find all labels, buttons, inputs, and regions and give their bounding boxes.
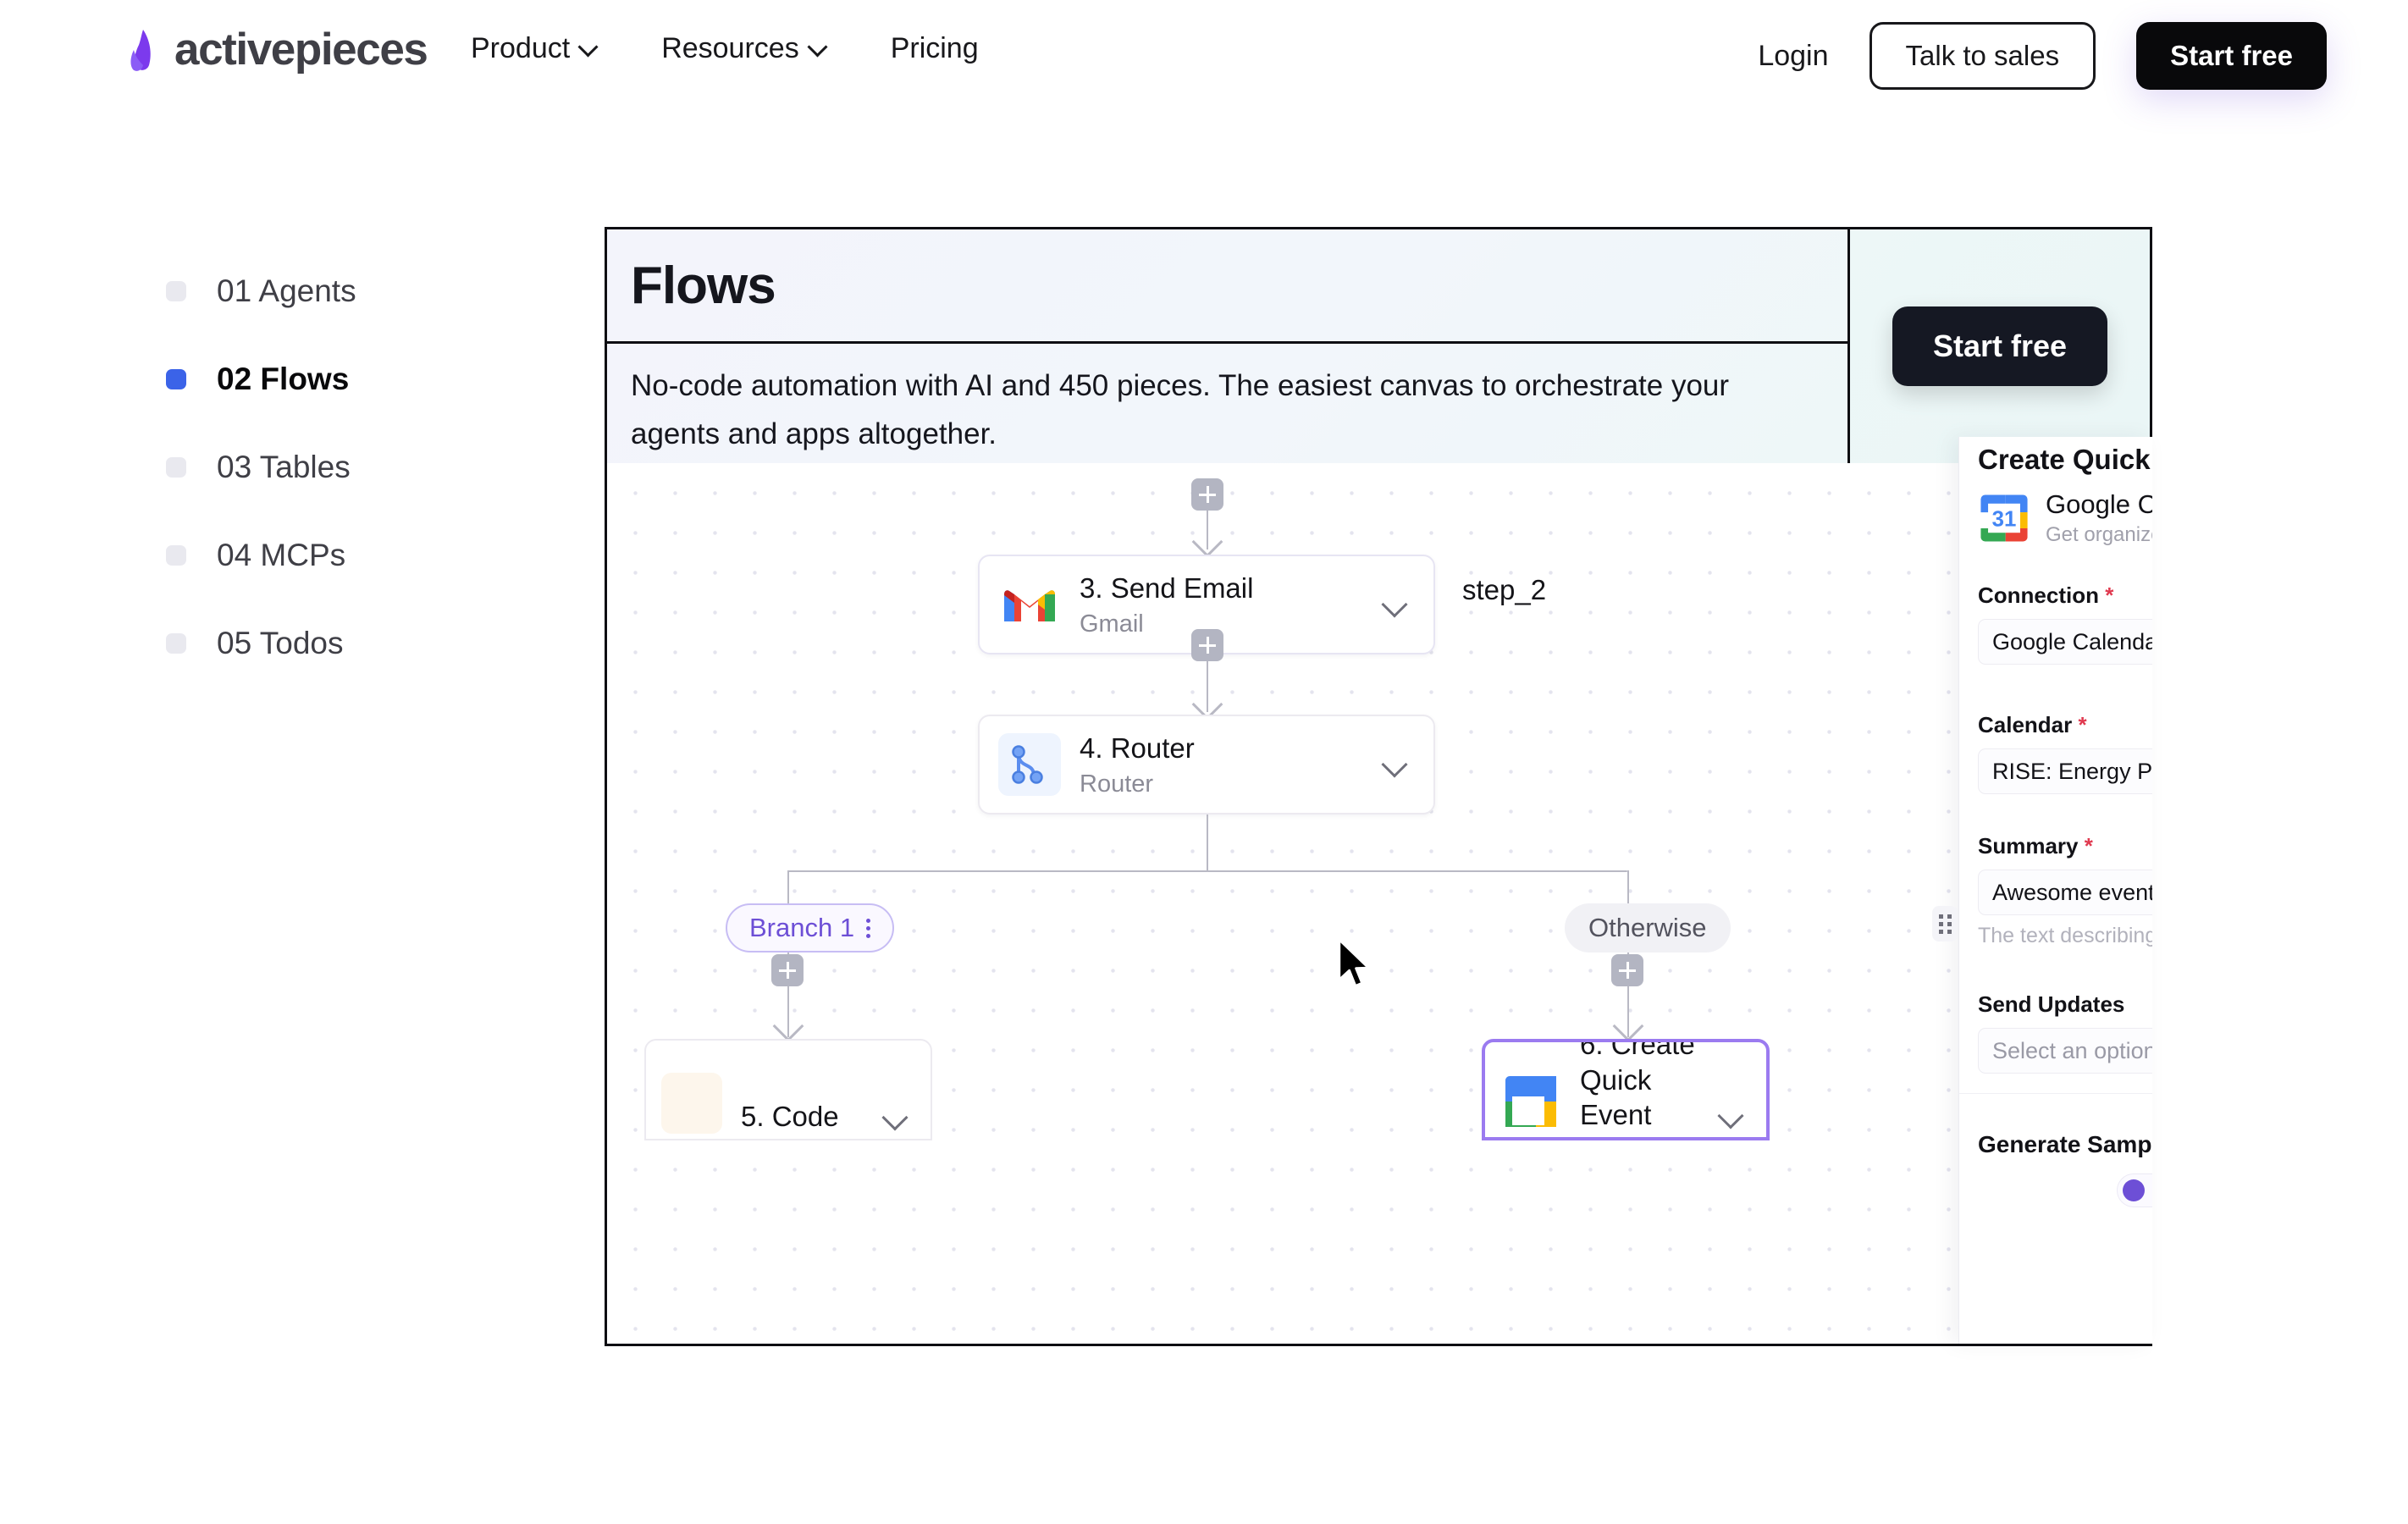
flow-node-router[interactable]: 4. Router Router [978,715,1435,814]
summary-hint: The text describing the e [1978,924,2152,948]
steplist-item-agents[interactable]: 01 Agents [166,247,522,335]
steplist-item-tables[interactable]: 03 Tables [166,423,522,511]
card-description: No-code automation with AI and 450 piece… [631,362,1824,458]
calendar-select[interactable]: RISE: Energy Peaks [1978,748,2152,794]
add-step-button[interactable] [1191,478,1223,511]
chevron-down-icon[interactable] [1383,592,1408,617]
step-dot-icon [166,633,186,654]
connector-line [787,870,1627,872]
flow-node-subtitle: Router [1080,770,1383,798]
chevron-down-icon[interactable] [1719,1103,1744,1129]
connector-arrow-icon [1613,1011,1644,1042]
branch-chip-otherwise[interactable]: Otherwise [1565,903,1731,952]
field-label: Send Updates [1978,991,2152,1018]
field-label-text: Summary [1978,833,2079,859]
card-start-free-button[interactable]: Start free [1892,306,2107,386]
section-steplist: 01 Agents 02 Flows 03 Tables 04 MCPs 05 … [166,247,522,687]
step-dot-icon [166,545,186,566]
panel-piece-text: Google Calendar Get organized [2046,489,2152,547]
drag-handle-icon [1939,914,1952,934]
brand-name: activepieces [174,24,427,75]
required-asterisk-icon: * [2099,583,2113,608]
add-step-button[interactable] [771,954,804,986]
panel-piece-name: Google Calendar [2046,489,2152,520]
steplist-item-mcps[interactable]: 04 MCPs [166,511,522,599]
product-showcase-card: Flows No-code automation with AI and 450… [605,227,2152,1346]
flow-node-title: 5. Code [741,1101,839,1132]
login-link[interactable]: Login [1758,40,1828,73]
panel-divider [1959,1093,2152,1094]
step-dot-icon [166,457,186,478]
branch-chip-branch-1[interactable]: Branch 1 [726,903,894,952]
chevron-down-icon[interactable] [883,1105,909,1130]
flow-node-subtitle: Gmail [1080,610,1383,638]
flow-node-step-tag: step_2 [1462,574,1546,606]
required-asterisk-icon: * [2079,833,2093,859]
connector-arrow-icon [773,1011,804,1042]
required-asterisk-icon: * [2072,712,2086,737]
connection-select[interactable]: Google Calendar [1978,619,2152,665]
flow-node-title: 4. Router [1080,732,1195,764]
generate-sample-data-label: Generate Sample D [1978,1131,2152,1158]
flow-node-text: 5. Code [741,1099,883,1134]
field-label-text: Calendar [1978,712,2072,737]
summary-input[interactable]: Awesome event [1978,870,2152,915]
talk-to-sales-button[interactable]: Talk to sales [1870,22,2096,90]
code-icon [661,1073,722,1134]
card-header: Flows No-code automation with AI and 450… [607,229,2150,463]
chevron-down-icon [809,38,826,55]
send-updates-select[interactable]: Select an option [1978,1028,2152,1074]
brand-logo[interactable]: activepieces [124,24,427,75]
steplist-item-todos[interactable]: 05 Todos [166,599,522,687]
top-navbar: activepieces Product Resources Pricing L… [0,0,2408,105]
nav-link-resources-label: Resources [661,32,799,65]
flow-node-text: 4. Router Router [1080,731,1383,798]
chevron-down-icon[interactable] [1383,752,1408,777]
flow-node-code[interactable]: 5. Code [644,1039,932,1140]
field-label: Connection * [1978,583,2152,609]
field-connection: Connection * Google Calendar [1978,583,2152,665]
connector-line [787,870,789,904]
step-dot-icon [166,369,186,389]
page-title: Flows [631,256,776,316]
router-icon [998,733,1061,796]
connector-line [1207,814,1208,870]
nav-link-product-label: Product [471,32,570,65]
field-label: Summary * [1978,833,2152,859]
branch-chip-label: Branch 1 [749,913,854,943]
branch-chip-label: Otherwise [1588,913,1707,943]
card-header-right: Start free [1850,229,2150,463]
flow-node-create-quick-event[interactable]: 6. Create Quick Event [1482,1039,1770,1140]
add-step-button[interactable] [1611,954,1643,986]
flow-canvas[interactable]: 3. Send Email Gmail step_2 [607,463,2150,1346]
card-description-row: No-code automation with AI and 450 piece… [607,344,1847,463]
google-calendar-icon: 31 [1978,492,2030,544]
panel-piece-header: 31 Google Calendar Get organized [1978,489,2152,547]
google-calendar-icon [1500,1071,1561,1132]
nav-actions: Login Talk to sales Start free [1758,22,2327,90]
field-summary: Summary * Awesome event The text describ… [1978,833,2152,948]
connector-line [1627,870,1629,904]
chevron-down-icon [580,38,597,55]
steplist-item-label: 05 Todos [217,626,344,661]
field-label-text: Connection [1978,583,2099,608]
activepieces-logo-icon [124,28,163,72]
panel-resize-handle[interactable] [1932,906,1958,941]
flow-node-text: 3. Send Email Gmail [1080,571,1383,638]
field-label: Calendar * [1978,712,2152,738]
steplist-item-label: 01 Agents [217,273,356,309]
nav-link-pricing[interactable]: Pricing [891,32,979,65]
generate-sample-data-toggle[interactable] [2117,1173,2152,1207]
steplist-item-label: 02 Flows [217,362,349,397]
kebab-menu-icon[interactable] [866,919,870,938]
flow-node-text: 6. Create Quick Event [1580,1039,1719,1132]
nav-link-resources[interactable]: Resources [661,32,826,65]
flow-node-title: 3. Send Email [1080,572,1253,604]
toggle-knob-icon [2123,1179,2145,1201]
gmail-icon [998,573,1061,636]
steplist-item-flows[interactable]: 02 Flows [166,335,522,423]
steplist-item-label: 03 Tables [217,450,351,485]
nav-links: Product Resources Pricing [471,32,979,65]
steplist-item-label: 04 MCPs [217,538,345,573]
step-settings-panel: Create Quick Event 31 Google Calendar Ge… [1958,437,2152,1344]
svg-text:31: 31 [1992,507,2017,531]
flow-node-title: 6. Create Quick Event [1580,1039,1695,1130]
field-send-updates: Send Updates Select an option [1978,991,2152,1074]
card-header-left: Flows No-code automation with AI and 450… [607,229,1850,463]
card-title-row: Flows [607,229,1847,344]
nav-link-product[interactable]: Product [471,32,597,65]
step-dot-icon [166,281,186,301]
field-calendar: Calendar * RISE: Energy Peaks [1978,712,2152,794]
panel-title: Create Quick Event [1978,444,2152,476]
connector-arrow-icon [1192,527,1223,558]
panel-piece-subtitle: Get organized [2046,523,2152,547]
start-free-button[interactable]: Start free [2136,22,2327,90]
add-step-button[interactable] [1191,629,1223,661]
